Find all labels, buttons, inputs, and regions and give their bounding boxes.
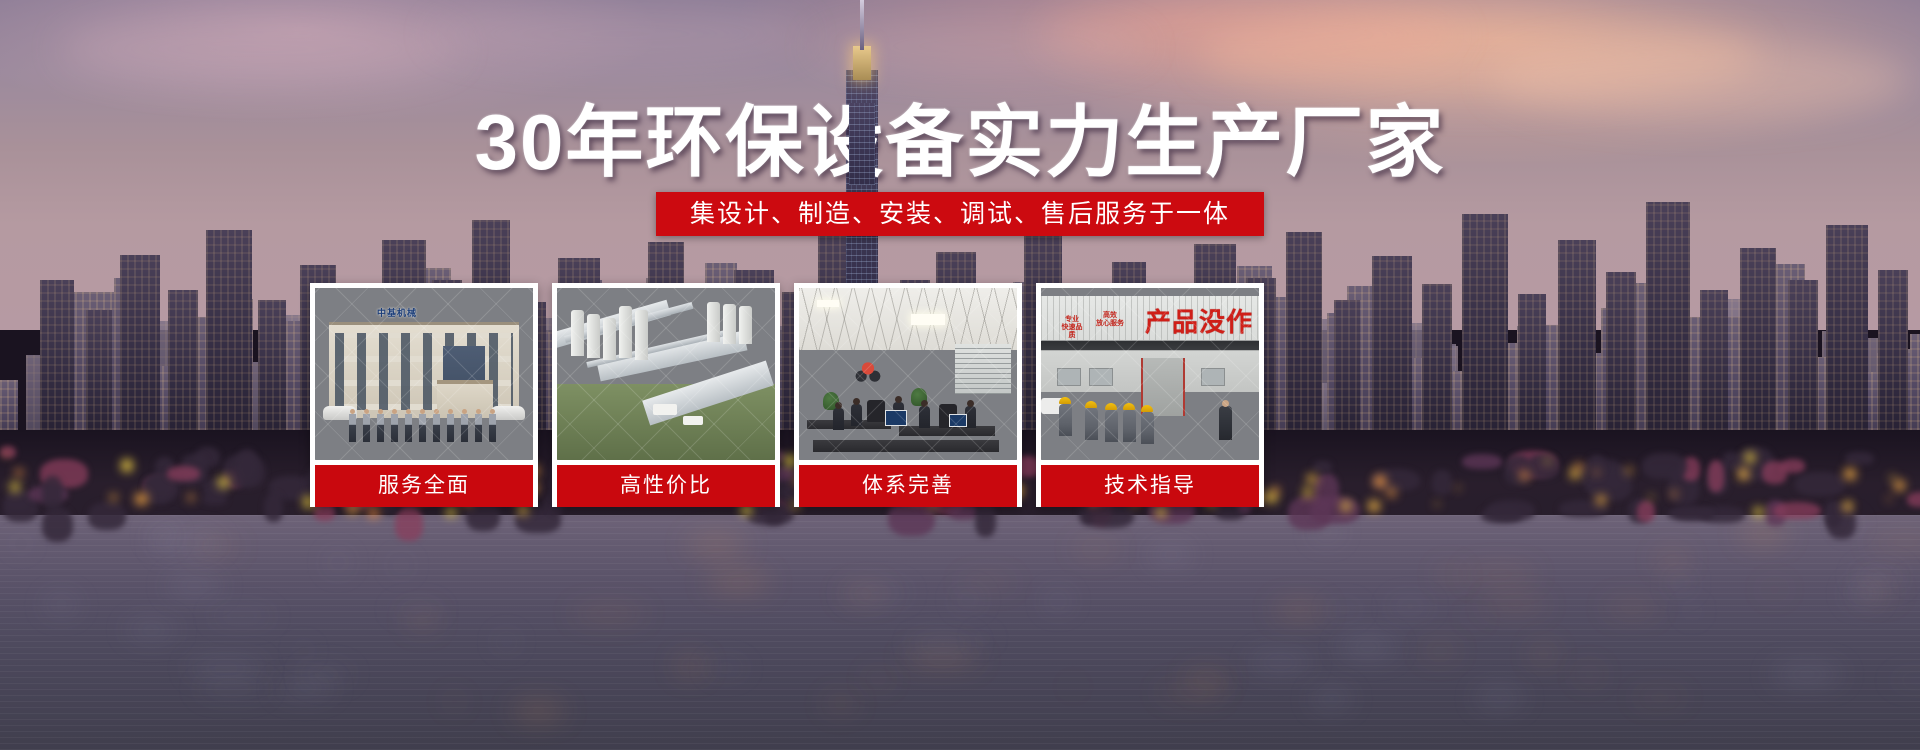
tree (1084, 504, 1133, 528)
tree (167, 466, 200, 481)
street-light (368, 507, 379, 518)
water-reflection (1463, 572, 1536, 576)
hardhat-icon (1085, 401, 1097, 408)
street-light (1272, 487, 1279, 494)
tower-crown (853, 46, 871, 80)
street-light (121, 459, 133, 471)
water-reflection (1631, 696, 1689, 699)
hero-banner: 30年环保设备实力生产厂家 集设计、制造、安装、调试、售后服务于一体 中基机械 (0, 0, 1920, 750)
building (86, 310, 112, 430)
water-reflection (194, 686, 271, 691)
water-reflection (839, 591, 887, 597)
tree (1313, 461, 1332, 473)
water-reflection (330, 557, 346, 568)
water-reflection (865, 677, 892, 680)
street-light (1745, 452, 1756, 463)
card-photo: 中基机械 (315, 288, 533, 460)
water-reflection (1906, 578, 1918, 582)
water-reflection (386, 608, 447, 611)
feature-card[interactable]: 高性价比 (552, 283, 780, 507)
hardhat-icon (1123, 403, 1135, 410)
hardhat-icon (1059, 397, 1071, 404)
street-light (1156, 507, 1166, 517)
water-reflection (704, 666, 748, 670)
water-reflection (496, 639, 517, 646)
street-light (1844, 468, 1856, 480)
water-reflection (512, 706, 565, 716)
tree (1432, 470, 1452, 495)
building (1462, 214, 1508, 430)
card-caption: 体系完善 (799, 465, 1017, 507)
tree (1527, 454, 1559, 479)
water-reflection (1073, 546, 1118, 550)
building (1606, 272, 1636, 430)
street-light (1596, 495, 1606, 505)
tree (1310, 496, 1360, 524)
street-light (188, 494, 194, 500)
water-reflection (166, 581, 223, 591)
card-photo (557, 288, 775, 460)
water-reflection (1483, 602, 1547, 606)
card-photo: 产品没作 专业快速品质 高效放心服务 (1041, 288, 1259, 460)
building (206, 230, 252, 430)
building (1334, 300, 1360, 430)
water-reflection (1068, 685, 1078, 688)
tree (395, 507, 423, 541)
tree (1708, 460, 1724, 491)
street-light (135, 493, 148, 506)
tree (1824, 500, 1842, 528)
water-reflection (1886, 679, 1920, 682)
street-light (1626, 467, 1633, 474)
photo-watermark (1041, 288, 1259, 460)
water-reflection (1186, 676, 1228, 683)
building (168, 290, 198, 430)
tree (42, 476, 62, 509)
feature-card[interactable]: 产品没作 专业快速品质 高效放心服务 (1036, 283, 1264, 507)
building (1826, 225, 1868, 430)
tree (1487, 500, 1534, 521)
street-light (1303, 488, 1313, 498)
water-reflection (1770, 669, 1843, 680)
tree (42, 507, 74, 542)
tree (1462, 454, 1502, 469)
hardhat-icon (1141, 405, 1153, 412)
building (1646, 202, 1690, 430)
feature-card[interactable]: 体系完善 (794, 283, 1022, 507)
river-water (0, 515, 1920, 750)
water-reflection (125, 626, 178, 634)
tree (1907, 492, 1920, 507)
tree (1795, 472, 1845, 496)
tree (1667, 507, 1713, 521)
building (1740, 248, 1776, 430)
water-reflection (1466, 616, 1484, 620)
feature-card-list: 中基机械 服务全面 (310, 283, 1264, 507)
card-photo (799, 288, 1017, 460)
tree (88, 502, 126, 530)
street-light (110, 494, 117, 501)
water-reflection (1672, 578, 1689, 587)
feature-card[interactable]: 中基机械 服务全面 (310, 283, 538, 507)
water-reflection (1149, 550, 1194, 560)
banner-subtitle: 集设计、制造、安装、调试、售后服务于一体 (656, 192, 1264, 236)
water-reflection (1324, 608, 1365, 611)
water-reflection (1339, 642, 1397, 653)
street-light (1843, 502, 1851, 510)
building (120, 255, 160, 430)
water-reflection (677, 661, 704, 671)
building (1518, 294, 1546, 430)
water-reflection (824, 701, 856, 705)
water-reflection (908, 641, 978, 647)
water-reflection (1687, 607, 1698, 614)
street-light (218, 477, 229, 488)
tree (144, 475, 172, 504)
tree (1637, 501, 1655, 522)
water-reflection (45, 600, 77, 609)
tree (1762, 461, 1787, 484)
card-caption: 技术指导 (1041, 465, 1259, 507)
tree (236, 449, 258, 483)
photo-watermark (799, 288, 1017, 460)
tower-spire (860, 0, 864, 50)
photo-watermark (557, 288, 775, 460)
tree (0, 446, 16, 458)
building (40, 280, 74, 430)
building (1878, 270, 1908, 430)
water-reflection (1854, 573, 1905, 580)
building (1558, 240, 1596, 430)
street-light (1435, 502, 1439, 506)
water-reflection (570, 611, 647, 616)
tree (764, 505, 784, 526)
tree (1773, 502, 1822, 520)
photo-watermark (315, 288, 533, 460)
card-caption: 高性价比 (557, 465, 775, 507)
tree (1845, 452, 1874, 465)
banner-headline: 30年环保设备实力生产厂家 (0, 103, 1920, 181)
building (1286, 232, 1322, 430)
water-reflection (154, 538, 221, 547)
building (1372, 256, 1412, 430)
street-light (1738, 468, 1749, 479)
building (1700, 290, 1728, 430)
water-reflection (299, 672, 354, 677)
water-reflection (408, 617, 438, 624)
tree (975, 503, 995, 537)
tree (264, 493, 283, 522)
tree (1642, 453, 1686, 479)
building (0, 380, 18, 430)
water-reflection (1577, 672, 1602, 677)
building (258, 300, 286, 430)
street-light (1894, 480, 1905, 491)
building (1422, 284, 1452, 430)
water-reflection (1657, 556, 1686, 564)
building (1910, 334, 1920, 430)
hardhat-icon (1105, 403, 1117, 410)
water-reflection (1273, 606, 1326, 614)
building (1788, 280, 1818, 430)
water-reflection (393, 562, 409, 569)
street-light (1374, 475, 1387, 488)
card-caption: 服务全面 (315, 465, 533, 507)
water-reflection (1868, 540, 1920, 544)
